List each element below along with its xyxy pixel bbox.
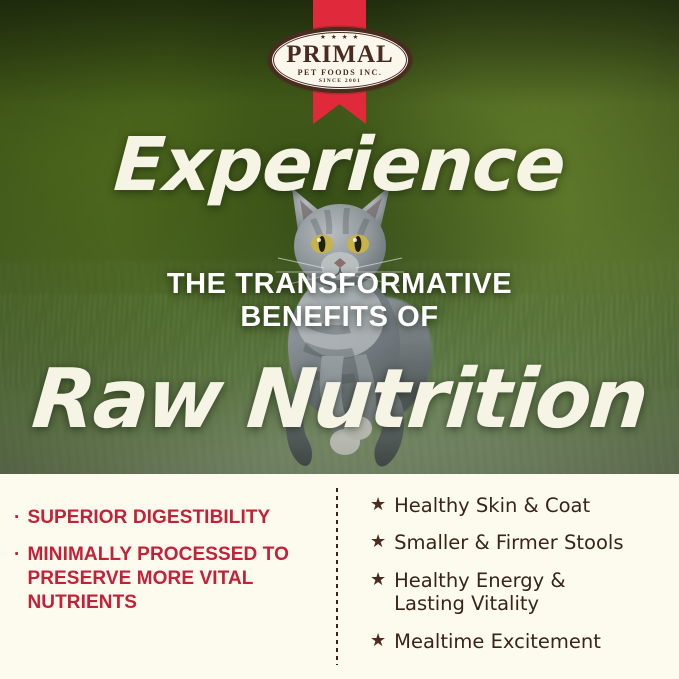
logo-since-text: SINCE 2001 bbox=[319, 79, 361, 85]
primal-logo: ★ ★ ★ ★ PRIMAL™ PET FOODS INC. SINCE 200… bbox=[268, 27, 412, 93]
benefit-item-star: ★ Healthy Energy & Lasting Vitality bbox=[370, 569, 669, 616]
benefit-star-line-1: Healthy Skin & Coat bbox=[394, 494, 590, 517]
benefit-star-line-2: Lasting Vitality bbox=[394, 592, 565, 615]
star-icon: ★ bbox=[370, 531, 386, 554]
benefit-star-line-1: Mealtime Excitement bbox=[394, 630, 601, 653]
headline-script-bottom: Raw Nutrition bbox=[0, 352, 679, 447]
benefit-red-text: SUPERIOR DIGESTIBILITY bbox=[27, 506, 270, 530]
logo-brand-text: PRIMAL bbox=[286, 41, 393, 68]
star-icon: ★ bbox=[370, 569, 386, 592]
bullet-dot-icon: · bbox=[14, 543, 20, 567]
bullet-dot-icon: · bbox=[14, 506, 20, 530]
primal-raw-nutrition-poster: ★ ★ ★ ★ PRIMAL™ PET FOODS INC. SINCE 200… bbox=[0, 0, 679, 679]
benefit-item-red: · MINIMALLY PROCESSED TO PRESERVE MORE V… bbox=[14, 543, 322, 615]
benefit-item-star: ★ Mealtime Excitement bbox=[370, 630, 669, 653]
headline-subhead: THE TRANSFORMATIVE BENEFITS OF bbox=[0, 268, 679, 334]
logo-inner-ring: ★ ★ ★ ★ PRIMAL™ PET FOODS INC. SINCE 200… bbox=[273, 32, 407, 88]
subhead-line-1: THE TRANSFORMATIVE bbox=[0, 268, 679, 301]
benefit-red-text: MINIMALLY PROCESSED TO PRESERVE MORE VIT… bbox=[27, 543, 322, 615]
benefit-star-line-1: Healthy Energy & bbox=[394, 569, 565, 592]
benefits-left-column: · SUPERIOR DIGESTIBILITY · MINIMALLY PRO… bbox=[0, 474, 336, 679]
benefit-star-text: Healthy Skin & Coat bbox=[394, 494, 590, 517]
benefit-item-star: ★ Healthy Skin & Coat bbox=[370, 494, 669, 517]
benefit-star-text: Healthy Energy & Lasting Vitality bbox=[394, 569, 565, 616]
headline-script-top: Experience bbox=[0, 122, 679, 208]
benefit-star-text: Smaller & Firmer Stools bbox=[394, 531, 623, 554]
benefits-right-column: ★ Healthy Skin & Coat ★ Smaller & Firmer… bbox=[338, 474, 679, 679]
benefit-star-line-1: Smaller & Firmer Stools bbox=[394, 531, 623, 554]
subhead-line-2: BENEFITS OF bbox=[0, 301, 679, 334]
trademark-symbol: ™ bbox=[397, 43, 403, 49]
star-icon: ★ bbox=[370, 494, 386, 517]
logo-brand-name: PRIMAL™ bbox=[286, 42, 393, 67]
logo-subtitle: PET FOODS INC. bbox=[298, 69, 383, 77]
hero-photo: ★ ★ ★ ★ PRIMAL™ PET FOODS INC. SINCE 200… bbox=[0, 0, 679, 474]
benefit-item-star: ★ Smaller & Firmer Stools bbox=[370, 531, 669, 554]
benefit-star-text: Mealtime Excitement bbox=[394, 630, 601, 653]
benefits-panel: · SUPERIOR DIGESTIBILITY · MINIMALLY PRO… bbox=[0, 474, 679, 679]
benefit-item-red: · SUPERIOR DIGESTIBILITY bbox=[14, 506, 322, 530]
star-icon: ★ bbox=[370, 630, 386, 653]
